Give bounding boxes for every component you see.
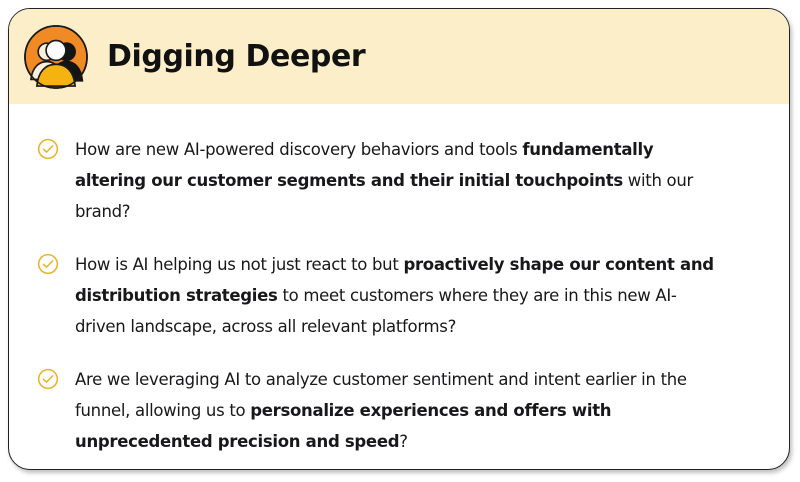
question-text: How are new AI-powered discovery behavio… xyxy=(75,134,715,227)
slide-card: Digging Deeper How are new AI-powered di… xyxy=(8,8,790,470)
question-segment-plain-tail: ? xyxy=(399,432,407,451)
question-text: How is AI helping us not just react to b… xyxy=(75,249,715,342)
people-group-circle-icon xyxy=(23,24,89,90)
question-text: Are we leveraging AI to analyze customer… xyxy=(75,364,715,457)
check-circle-icon xyxy=(37,138,59,160)
question-list: How are new AI-powered discovery behavio… xyxy=(37,134,761,457)
check-circle-icon xyxy=(37,368,59,390)
check-circle-icon xyxy=(37,253,59,275)
list-item: How are new AI-powered discovery behavio… xyxy=(37,134,761,227)
list-item: Are we leveraging AI to analyze customer… xyxy=(37,364,761,457)
question-segment-plain: How is AI helping us not just react to b… xyxy=(75,255,403,274)
list-item: How is AI helping us not just react to b… xyxy=(37,249,761,342)
page-title: Digging Deeper xyxy=(107,42,365,72)
card-body: How are new AI-powered discovery behavio… xyxy=(9,104,789,470)
question-segment-plain: How are new AI-powered discovery behavio… xyxy=(75,140,522,159)
card-header: Digging Deeper xyxy=(9,9,789,104)
